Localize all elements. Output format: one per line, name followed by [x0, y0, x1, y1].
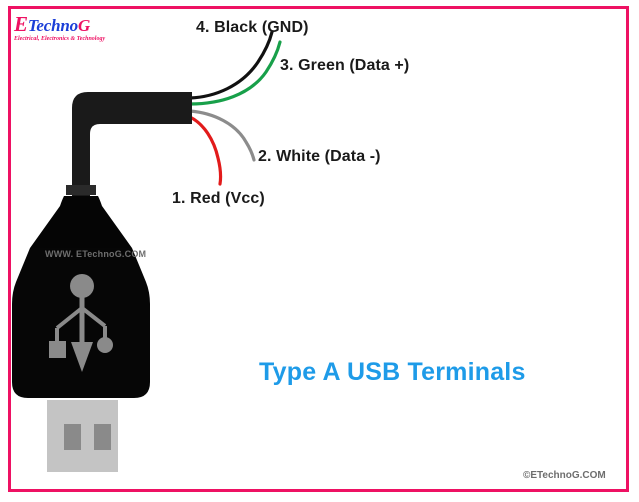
cable-boot [30, 196, 132, 248]
diagram-canvas: ETechnoG Electrical, Electronics & Techn… [0, 0, 639, 502]
wire-label-black-gnd: 4. Black (GND) [196, 19, 309, 37]
wire-black-gnd [190, 32, 272, 98]
cable-boot-neck [66, 185, 96, 195]
wire-white-data-minus [190, 111, 254, 160]
diagram-title: Type A USB Terminals [259, 358, 526, 387]
watermark-text: WWW. ETechnoG.COM [45, 249, 146, 259]
wire-label-red-vcc: 1. Red (Vcc) [172, 190, 265, 208]
cable-end-cap [170, 92, 192, 124]
usb-shell-notch-left [64, 424, 81, 450]
wire-green-data-plus [190, 42, 280, 104]
copyright-text: ©ETechnoG.COM [523, 470, 606, 481]
usb-shell-notch-right [94, 424, 111, 450]
wire-red-vcc [190, 117, 221, 184]
wire-label-white-data-minus: 2. White (Data -) [258, 148, 381, 166]
wire-label-green-data-plus: 3. Green (Data +) [280, 57, 409, 75]
